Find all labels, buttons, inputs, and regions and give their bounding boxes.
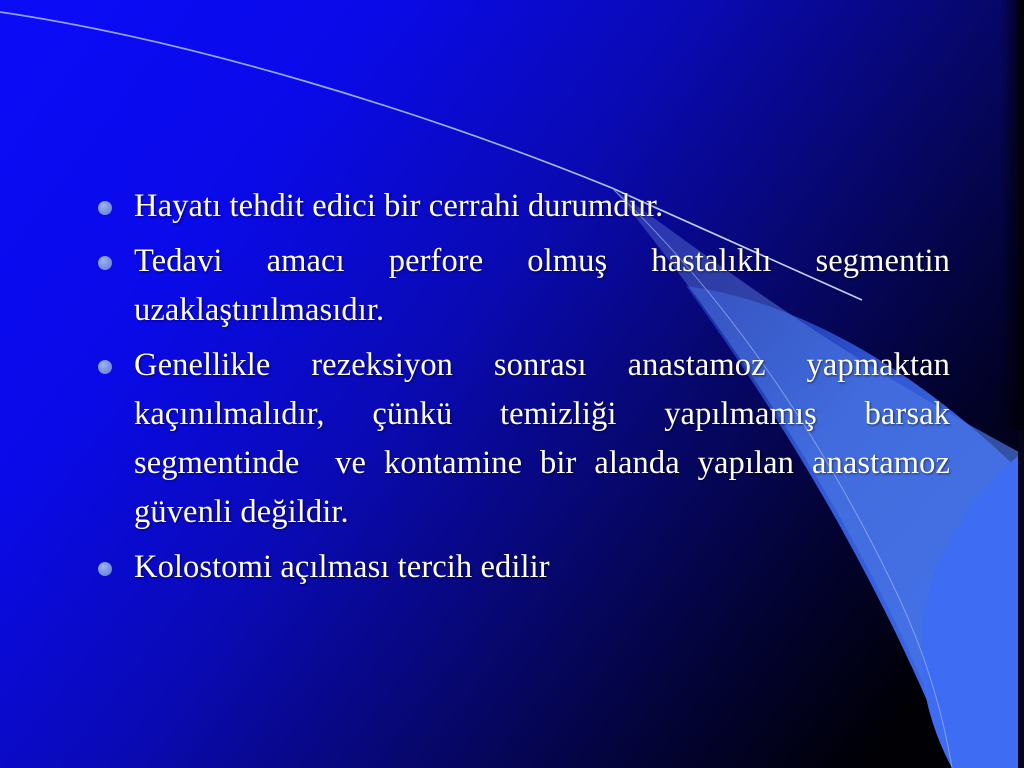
bullet-text: Kolostomi açılması tercih edilir bbox=[134, 543, 950, 592]
bullet-text: Genellikle rezeksiyon sonrası anastamoz … bbox=[134, 341, 950, 537]
disc-bullet-icon bbox=[98, 562, 112, 576]
presentation-slide: Hayatı tehdit edici bir cerrahi durumdur… bbox=[0, 0, 1024, 768]
list-item: Hayatı tehdit edici bir cerrahi durumdur… bbox=[98, 182, 950, 231]
list-item: Tedavi amacı perfore olmuş hastalıklı se… bbox=[98, 237, 950, 335]
disc-bullet-icon bbox=[98, 201, 112, 215]
list-item: Kolostomi açılması tercih edilir bbox=[98, 543, 950, 592]
disc-bullet-icon bbox=[98, 360, 112, 374]
right-edge-fade bbox=[1000, 0, 1024, 430]
slide-body-text: Hayatı tehdit edici bir cerrahi durumdur… bbox=[98, 182, 950, 598]
bullet-text: Tedavi amacı perfore olmuş hastalıklı se… bbox=[134, 237, 950, 335]
list-item: Genellikle rezeksiyon sonrası anastamoz … bbox=[98, 341, 950, 537]
disc-bullet-icon bbox=[98, 256, 112, 270]
bullet-text: Hayatı tehdit edici bir cerrahi durumdur… bbox=[134, 182, 950, 231]
